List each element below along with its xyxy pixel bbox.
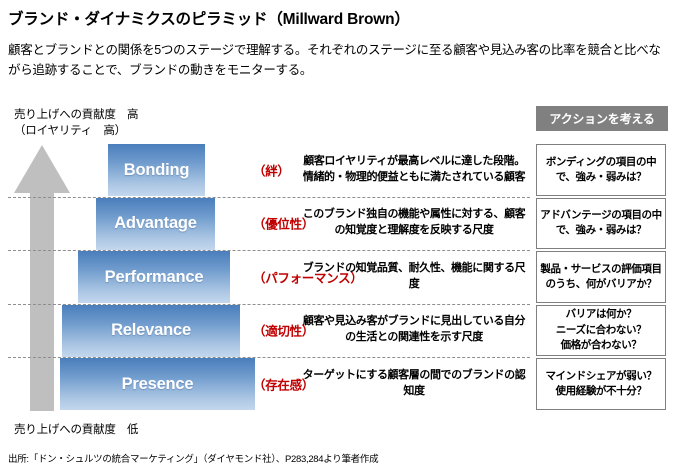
axis-bottom-label: 売り上げへの貢献度 低 <box>14 421 138 437</box>
tier-bar-performance[interactable]: Performance <box>78 251 230 303</box>
tier-japanese-label: （絆） <box>253 160 290 179</box>
page-title: ブランド・ダイナミクスのピラミッド（Millward Brown） <box>8 7 410 29</box>
axis-top-label: 売り上げへの貢献度 高 （ロイヤリティ 高） <box>14 108 138 139</box>
tier-bar-advantage[interactable]: Advantage <box>96 198 215 250</box>
tier-label: Performance <box>105 268 204 287</box>
tier-label: Presence <box>122 375 194 394</box>
tier-label: Advantage <box>114 214 197 233</box>
tier-description: 顧客や見込み客がブランドに見出している自分の生活との関連性を示す尺度 <box>300 314 528 346</box>
tier-label: Bonding <box>124 161 190 180</box>
action-column-header: アクションを考える <box>536 106 668 131</box>
action-box-presence[interactable]: マインドシェアが弱い？ 使用経験が不十分？ <box>536 358 666 410</box>
action-box-list: ボンディングの項目の中で、強み・弱みは？アドバンテージの項目の中で、強み・弱みは… <box>536 143 668 411</box>
tier-bar-bonding[interactable]: Bonding <box>108 144 205 196</box>
action-box-bonding[interactable]: ボンディングの項目の中で、強み・弱みは？ <box>536 144 666 196</box>
tier-description: ターゲットにする顧客層の間でのブランドの認知度 <box>300 368 528 400</box>
tier-label: Relevance <box>111 321 191 340</box>
tier-bar-relevance[interactable]: Relevance <box>62 305 240 357</box>
action-box-relevance[interactable]: バリアは何か？ ニーズに合わない？ 価格が合わない？ <box>536 305 666 357</box>
tier-description: 顧客ロイヤリティが最高レベルに達した段階。情緒的・物理的便益ともに満たされている… <box>300 154 528 186</box>
action-box-performance[interactable]: 製品・サービスの評価項目のうち、何がバリアか？ <box>536 251 666 303</box>
tier-divider <box>8 197 530 198</box>
intro-description: 顧客とブランドとの関係を5つのステージで理解する。それぞれのステージに至る顧客や… <box>8 40 668 81</box>
tier-bar-presence[interactable]: Presence <box>60 358 255 410</box>
action-box-advantage[interactable]: アドバンテージの項目の中で、強み・弱みは？ <box>536 198 666 250</box>
tier-description: このブランド独自の機能や属性に対する、顧客の知覚度と理解度を反映する尺度 <box>300 207 528 239</box>
tier-description: ブランドの知覚品質、耐久性、機能に関する尺度 <box>300 261 528 293</box>
source-note: 出所:「ドン・シュルツの統合マーケティング」（ダイヤモンド社）、P283,284… <box>8 451 378 465</box>
